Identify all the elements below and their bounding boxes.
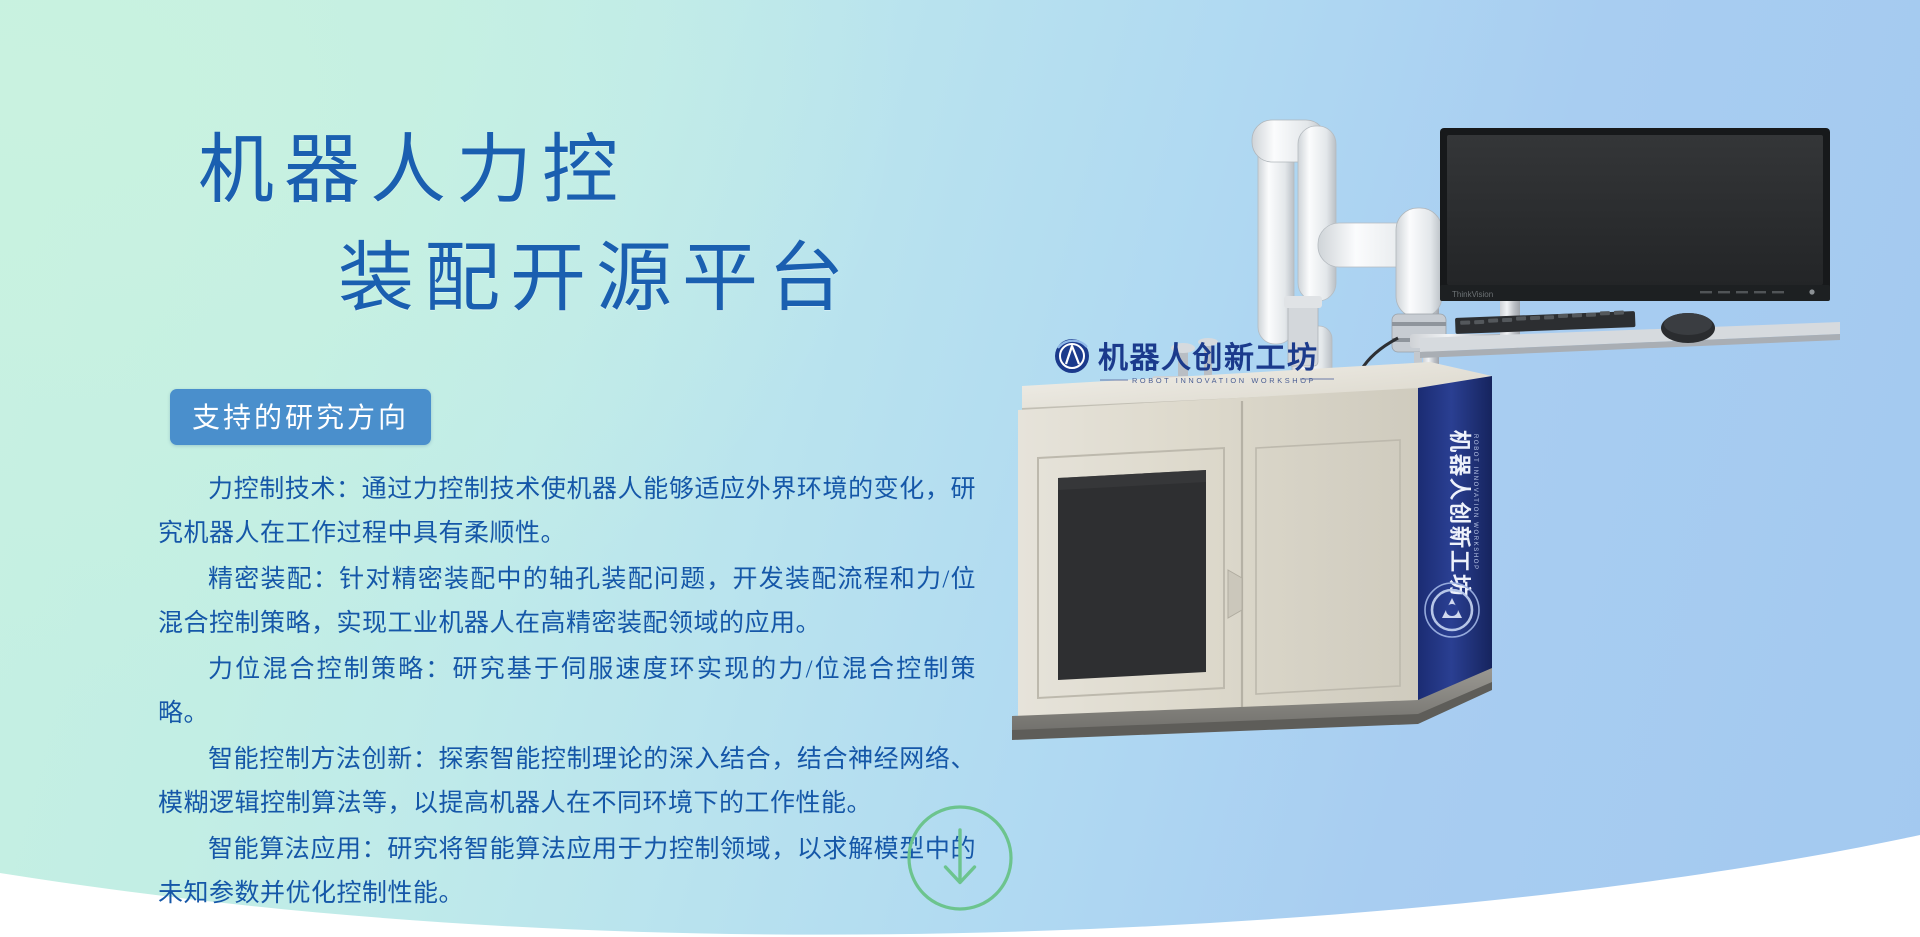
section-badge: 支持的研究方向 [170, 389, 431, 445]
list-item: 智能算法应用：研究将智能算法应用于力控制领域，以求解模型中的未知参数并优化控制性… [158, 828, 976, 916]
list-item: 精密装配：针对精密装配中的轴孔装配问题，开发装配流程和力/位混合控制策略，实现工… [158, 558, 976, 646]
title-line-1: 机器人力控 [0, 118, 1000, 226]
cabinet-body [1018, 388, 1418, 718]
side-panel-brand-cn: 机器人创新工坊 [1447, 430, 1472, 598]
monitor-brand-label: ThinkVision [1452, 290, 1493, 299]
cabinet-window [1058, 470, 1206, 680]
side-panel-brand-en: ROBOT INNOVATION WORKSHOP [1472, 434, 1478, 571]
research-directions-list: 力控制技术：通过力控制技术使机器人能够适应外界环境的变化，研究机器人在工作过程中… [158, 468, 976, 918]
list-item: 智能控制方法创新：探索智能控制理论的深入结合，结合神经网络、模糊逻辑控制算法等，… [158, 738, 976, 826]
assembly-platform-illustration: ThinkVision [1000, 90, 1920, 790]
machine-brand-logo: 机器人创新工坊 ROBOT INNOVATION WORKSHOP [1055, 339, 1334, 385]
list-item: 力位混合控制策略：研究基于伺服速度环实现的力/位混合控制策略。 [158, 648, 976, 736]
cabinet-side-panel: 机器人创新工坊 ROBOT INNOVATION WORKSHOP [1418, 376, 1492, 702]
title-line-2: 装配开源平台 [0, 226, 1000, 334]
monitor: ThinkVision [1440, 128, 1830, 301]
brand-emblem-icon [1055, 339, 1089, 373]
hero-banner: 机器人力控 装配开源平台 支持的研究方向 力控制技术：通过力控制技术使机器人能够… [0, 0, 1920, 937]
scroll-down-button[interactable] [905, 803, 1015, 913]
side-panel-emblem-icon [1425, 583, 1479, 637]
page-title: 机器人力控 装配开源平台 [0, 118, 1000, 334]
brand-name-en: ROBOT INNOVATION WORKSHOP [1132, 376, 1316, 385]
monitor-screen [1447, 135, 1823, 285]
list-item: 力控制技术：通过力控制技术使机器人能够适应外界环境的变化，研究机器人在工作过程中… [158, 468, 976, 556]
brand-name-cn: 机器人创新工坊 [1098, 341, 1319, 375]
